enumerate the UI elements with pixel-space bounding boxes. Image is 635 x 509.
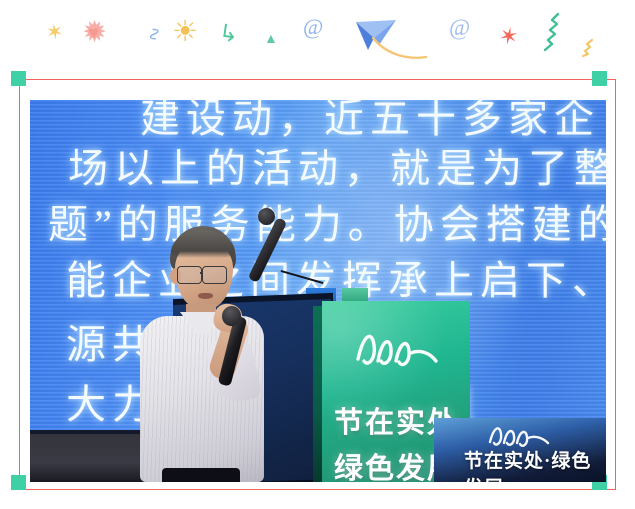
decorative-doodle-strip: ✶ ♥ ✹ ∿ ☀ ↳ ▲ @ @ ✶ [0,0,635,78]
triangle-icon-green: ▲ [264,31,278,45]
zigzag-icon-green-tall [538,12,564,52]
speaker-glasses-left-lens [177,266,202,284]
speaker-glasses-right-lens [202,266,227,284]
zigzag-icon-green: ↳ [217,21,239,46]
speaker-mouth [198,293,213,299]
frame-corner-top-left [11,71,26,86]
frame-corner-bottom-left [11,475,26,490]
zigzag-icon-yellow-small [574,38,596,58]
heart-burst-rays-icon: ✹ [82,18,107,48]
frame-corner-top-right [592,71,607,86]
brand-strip-text: 节在实处·绿色发展 [464,446,606,482]
spiral-icon-blue-small: @ [303,16,323,38]
squiggle-icon-blue: ∿ [144,25,164,43]
star-icon-yellow: ✶ [45,21,65,44]
podium-calligraphy-logo-icon [348,323,444,375]
sun-icon: ☀ [172,18,198,47]
podium-microphone-head [258,208,275,225]
star-icon-red: ✶ [497,23,521,50]
event-brand-strip: 节在实处·绿色发展 [434,418,606,482]
speaker-glasses-bridge [200,272,203,274]
speaker-trousers [162,468,240,482]
event-photo: 建设动，近五十多家企 场以上的活动，就是为了整合 题”的服务能力。协会搭建的节 … [30,100,606,482]
speaker-person [118,220,298,482]
spiral-icon-blue-large: @ [449,16,470,39]
paper-plane-trail-icon [372,36,428,62]
